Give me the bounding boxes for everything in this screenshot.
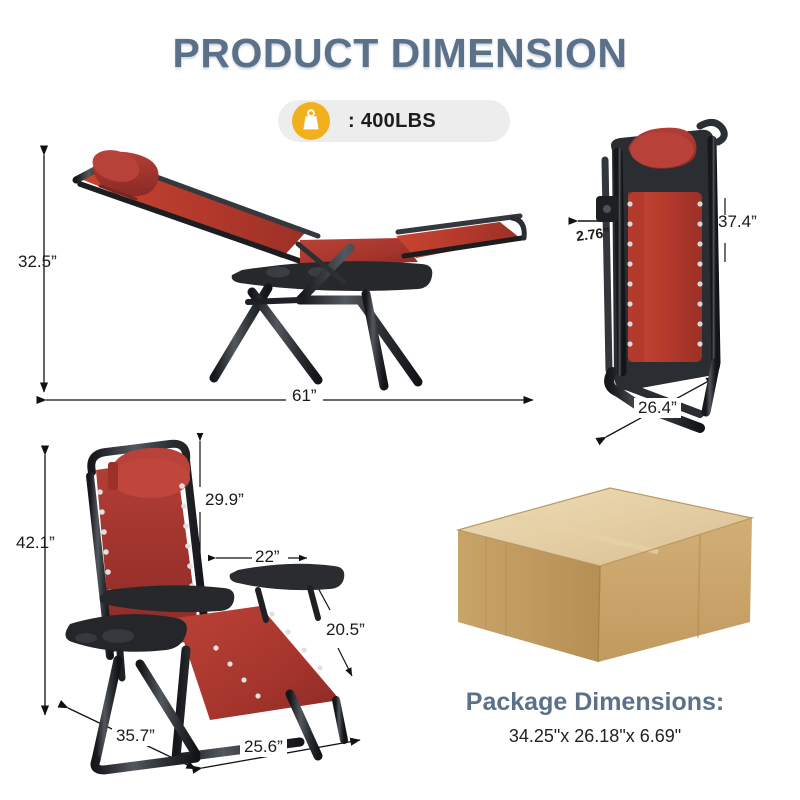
package-backdrop: [425, 510, 755, 675]
dimension-label-backrest-height: 29.9”: [205, 490, 244, 510]
dimension-label-upright-depth: 35.7”: [112, 726, 159, 746]
dimension-label-upright-width: 25.6”: [240, 737, 287, 757]
page-title: PRODUCT DIMENSION: [0, 30, 800, 77]
dimension-label-folded-height: 37.4”: [718, 212, 757, 232]
reclined-chair-illustration: [76, 145, 524, 386]
weight-icon: [292, 102, 330, 140]
package-dimensions-title: Package Dimensions:: [415, 688, 775, 717]
weight-capacity-label: : 400LBS: [348, 110, 436, 133]
dimension-label-reclined-length: 61”: [286, 386, 323, 406]
package-box-illustration: [458, 488, 752, 662]
dimension-label-reclined-height: 32.5”: [18, 252, 57, 272]
dimension-label-folded-thickness: 2.76”: [575, 224, 611, 244]
dimension-label-upright-height: 42.1”: [16, 533, 55, 553]
package-dimensions-value: 34.25"x 26.18"x 6.69": [415, 726, 775, 747]
dimension-label-seat-width: 22”: [255, 547, 280, 567]
dimension-label-seat-height: 20.5”: [326, 620, 365, 640]
folded-chair-illustration: [596, 122, 724, 428]
weight-capacity-badge: : 400LBS: [278, 100, 510, 142]
product-dimension-infographic: PRODUCT DIMENSION : 400LBS: [0, 0, 800, 800]
dimension-label-folded-depth: 26.4”: [634, 398, 681, 418]
